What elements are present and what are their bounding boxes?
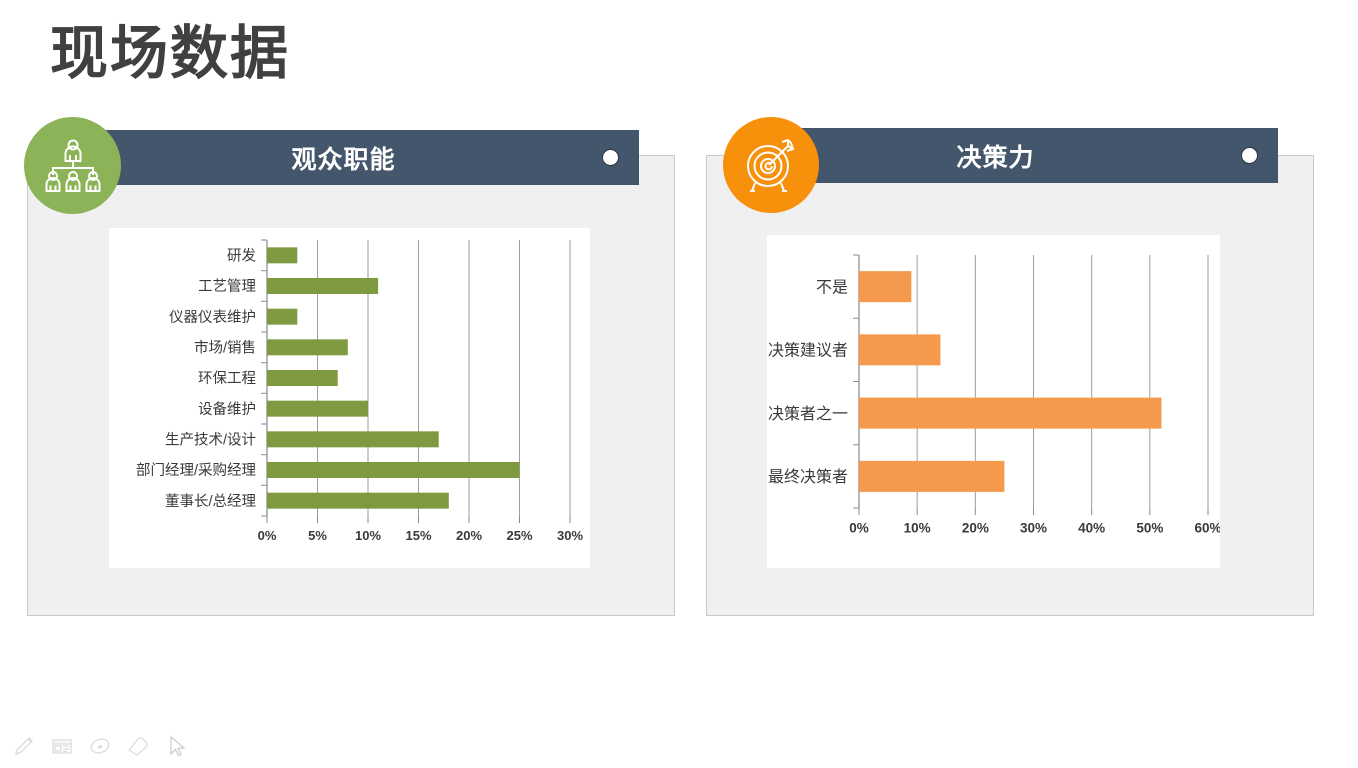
screen-icon[interactable] [48, 732, 76, 760]
category-label: 环保工程 [198, 370, 256, 387]
category-label: 设备维护 [198, 401, 256, 418]
category-label: 研发 [227, 248, 256, 265]
x-tick-label: 40% [1078, 521, 1105, 536]
x-tick-label: 10% [355, 528, 381, 543]
x-tick-label: 30% [1020, 521, 1047, 536]
category-label: 部门经理/采购经理 [136, 462, 257, 479]
status-dot-icon[interactable] [1241, 147, 1258, 164]
x-tick-label: 0% [258, 528, 277, 543]
category-label: 市场/销售 [194, 340, 256, 357]
bar [267, 431, 439, 447]
category-label: 不是 [816, 279, 848, 296]
category-label: 工艺管理 [198, 278, 256, 295]
x-tick-label: 25% [506, 528, 532, 543]
category-label: 生产技术/设计 [165, 432, 256, 449]
chart-audience-function: 研发工艺管理仪器仪表维护市场/销售环保工程设备维护生产技术/设计部门经理/采购经… [109, 228, 590, 568]
category-label: 最终决策者 [768, 468, 848, 486]
bar-chart-horizontal-left: 研发工艺管理仪器仪表维护市场/销售环保工程设备维护生产技术/设计部门经理/采购经… [109, 228, 590, 568]
x-tick-label: 50% [1136, 521, 1163, 536]
panel-header-left: 观众职能 [85, 130, 639, 185]
status-dot-icon[interactable] [602, 149, 619, 166]
category-label: 仪器仪表维护 [169, 309, 256, 326]
x-tick-label: 30% [557, 528, 583, 543]
page-title: 现场数据 [50, 22, 290, 86]
pen-icon[interactable] [10, 732, 38, 760]
category-label: 决策者之一 [768, 405, 848, 423]
target-icon-badge [723, 117, 819, 213]
chart-decision-power: 不是决策建议者决策者之一最终决策者0%10%20%30%40%50%60% [767, 235, 1220, 568]
bar [859, 461, 1004, 492]
bar [267, 278, 378, 294]
category-label: 董事长/总经理 [165, 493, 257, 510]
x-tick-label: 10% [904, 521, 931, 536]
bar [267, 339, 348, 355]
org-chart-icon-badge [24, 117, 121, 214]
panel-title-left: 观众职能 [85, 140, 602, 176]
bar [859, 398, 1161, 429]
bar [267, 309, 297, 325]
panel-title-right: 决策力 [750, 138, 1241, 174]
target-icon [741, 135, 801, 195]
bar [267, 401, 368, 417]
x-tick-label: 5% [308, 528, 327, 543]
panel-header-right: 决策力 [750, 128, 1278, 183]
slide-canvas: 现场数据 观众职能 [0, 0, 1358, 768]
laser-pointer-icon[interactable] [86, 732, 114, 760]
org-chart-icon [42, 137, 104, 195]
bar-chart-horizontal-right: 不是决策建议者决策者之一最终决策者0%10%20%30%40%50%60% [767, 235, 1220, 568]
bar [267, 493, 449, 509]
x-tick-label: 60% [1194, 521, 1220, 536]
bar [267, 462, 520, 478]
x-tick-label: 0% [849, 521, 869, 536]
category-label: 决策建议者 [768, 342, 848, 360]
bar [267, 370, 338, 386]
x-tick-label: 20% [456, 528, 482, 543]
annotation-toolbar [10, 732, 190, 760]
bar [859, 334, 940, 365]
bar [267, 247, 297, 263]
bar [859, 271, 911, 302]
x-tick-label: 15% [405, 528, 431, 543]
eraser-icon[interactable] [124, 732, 152, 760]
cursor-arrow-icon[interactable] [162, 732, 190, 760]
x-tick-label: 20% [962, 521, 989, 536]
